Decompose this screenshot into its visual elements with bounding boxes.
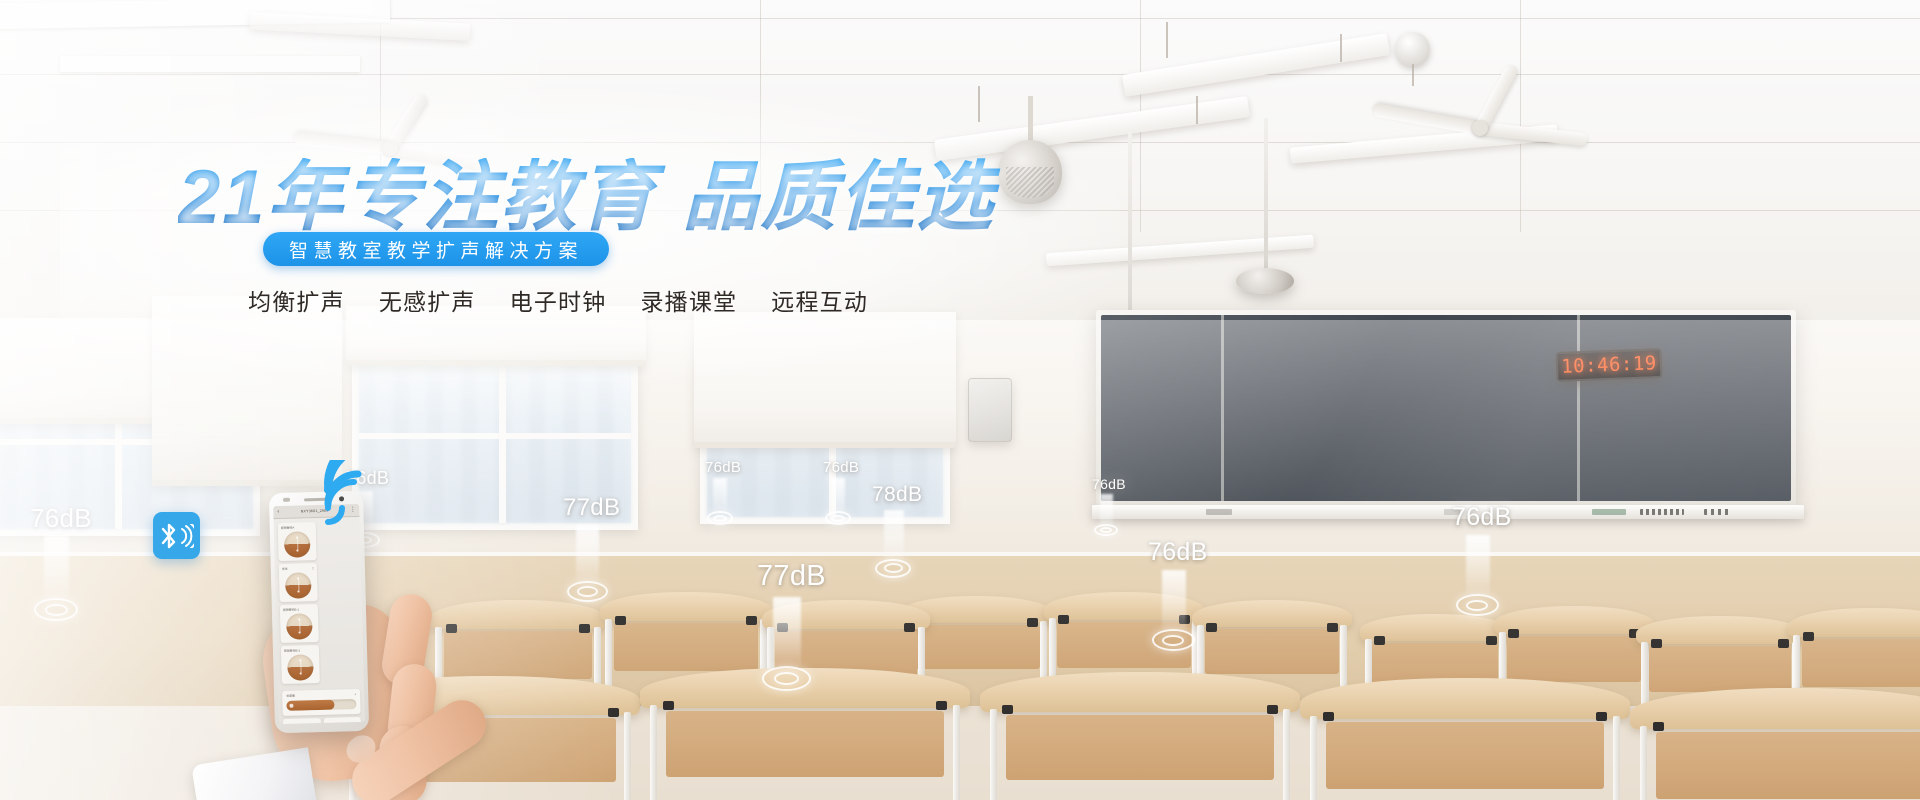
blackboard-tray: [1092, 505, 1804, 519]
feature-item-3: 录播课堂: [640, 283, 737, 317]
wifi-signal-icon: [320, 460, 390, 530]
desk-front-row: [980, 672, 1300, 800]
db-label: 76dB: [705, 459, 741, 476]
feature-item-4: 远程互动: [771, 283, 868, 317]
sound-ripple-inner: [45, 604, 68, 616]
feature-list: 均衡扩声无感扩声电子时钟录播课堂远程互动: [248, 283, 868, 317]
feature-item-1: 无感扩声: [379, 283, 476, 317]
volume-label: 总音量: [286, 694, 295, 698]
knob-icon[interactable]: [335, 723, 350, 724]
mini-card[interactable]: [323, 717, 361, 724]
feature-item-2: 电子时钟: [510, 283, 607, 317]
clock-time: 10:46:19: [1561, 352, 1657, 378]
phone-card-grid: 视频教师A学生□视频教师B-1视频教师B-2: [274, 517, 364, 688]
db-label: 76dB: [30, 503, 92, 534]
phone-card-label: 学生: [282, 567, 288, 571]
sound-ripple-inner: [577, 586, 598, 597]
blackboard: [1096, 310, 1796, 506]
sound-ripple-inner: [1162, 635, 1184, 646]
sound-beam: [884, 510, 904, 565]
sound-ripple-inner: [774, 672, 799, 685]
window-shade: [694, 312, 956, 448]
db-label: 77dB: [757, 560, 826, 593]
mini-card[interactable]: [283, 718, 321, 724]
volume-slider[interactable]: [286, 699, 356, 711]
knob-icon[interactable]: [286, 613, 313, 640]
sound-ripple-inner: [831, 515, 845, 522]
ceiling-sensor: [1396, 32, 1430, 66]
db-label: 76dB: [1092, 476, 1126, 492]
sound-beam: [44, 536, 69, 604]
wall-control-panel: [968, 378, 1012, 442]
headline-part1: 21年专注教育: [178, 155, 657, 240]
plus-icon[interactable]: +: [354, 692, 356, 696]
sound-ripple-inner: [1100, 527, 1112, 533]
page-title: 21年专注教育品质佳选: [178, 158, 1078, 239]
sound-beam: [1466, 535, 1490, 600]
phone-card-label: 视频教师A: [281, 526, 295, 530]
feature-item-0: 均衡扩声: [248, 283, 345, 317]
chevron-left-icon[interactable]: ‹: [277, 509, 279, 515]
phone-card[interactable]: 视频教师A: [278, 522, 317, 561]
knob-icon[interactable]: [284, 531, 311, 558]
shirt-cuff: [191, 747, 318, 800]
db-label: 76dB: [823, 459, 859, 476]
db-label: 76dB: [1452, 503, 1512, 532]
sound-ripple-inner: [713, 515, 727, 522]
phone-card[interactable]: 学生□: [279, 563, 318, 602]
desk-front-row: [1630, 688, 1920, 800]
window-shade: [152, 296, 342, 486]
volume-card[interactable]: 总音量 +: [282, 689, 361, 716]
knob-icon[interactable]: [287, 654, 314, 681]
banner-stage: 10:46:19: [0, 0, 1920, 800]
sound-beam: [773, 597, 801, 672]
headline-part2: 品质佳选: [683, 155, 995, 240]
phone-card[interactable]: 视频教师B-2: [281, 645, 320, 684]
phone-screen[interactable]: ‹ NXY3601_2904 ⋮ 视频教师A学生□视频教师B-1视频教师B-2 …: [273, 504, 365, 724]
knob-icon[interactable]: [285, 572, 312, 599]
desk-front-row: [1300, 678, 1630, 800]
db-label: 76dB: [1148, 538, 1208, 567]
phone-card-badge: □: [312, 566, 314, 570]
digital-clock: 10:46:19: [1555, 348, 1662, 382]
sound-ripple-inner: [1466, 600, 1488, 611]
sound-beam: [1162, 570, 1186, 635]
sound-beam: [576, 525, 599, 587]
phone-card-label: 视频教师B-2: [284, 649, 300, 653]
ceiling-fan: [1370, 106, 1590, 150]
desk-front-row: [640, 668, 970, 800]
phone-card[interactable]: 视频教师B-1: [280, 604, 319, 643]
phone-mini-card-row: [279, 714, 365, 724]
db-label: 77dB: [563, 494, 620, 522]
wall-speaker-right: [1236, 262, 1294, 296]
phone-card-label: 视频教师B-1: [283, 608, 299, 612]
bluetooth-icon: [153, 512, 200, 559]
subtitle-text: 智慧教室教学扩声解决方案: [289, 236, 583, 263]
subtitle-pill: 智慧教室教学扩声解决方案: [263, 232, 609, 266]
db-label: 78dB: [872, 483, 922, 507]
